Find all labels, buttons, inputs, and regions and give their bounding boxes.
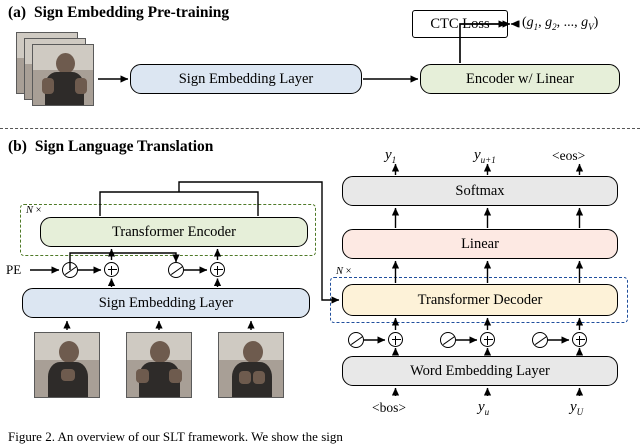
figure-caption: Figure 2. An overview of our SLT framewo… [8,429,632,445]
figure-2-overview: (a) Sign Embedding Pre-training Sign Emb… [0,0,640,445]
connector-layer [0,0,640,445]
